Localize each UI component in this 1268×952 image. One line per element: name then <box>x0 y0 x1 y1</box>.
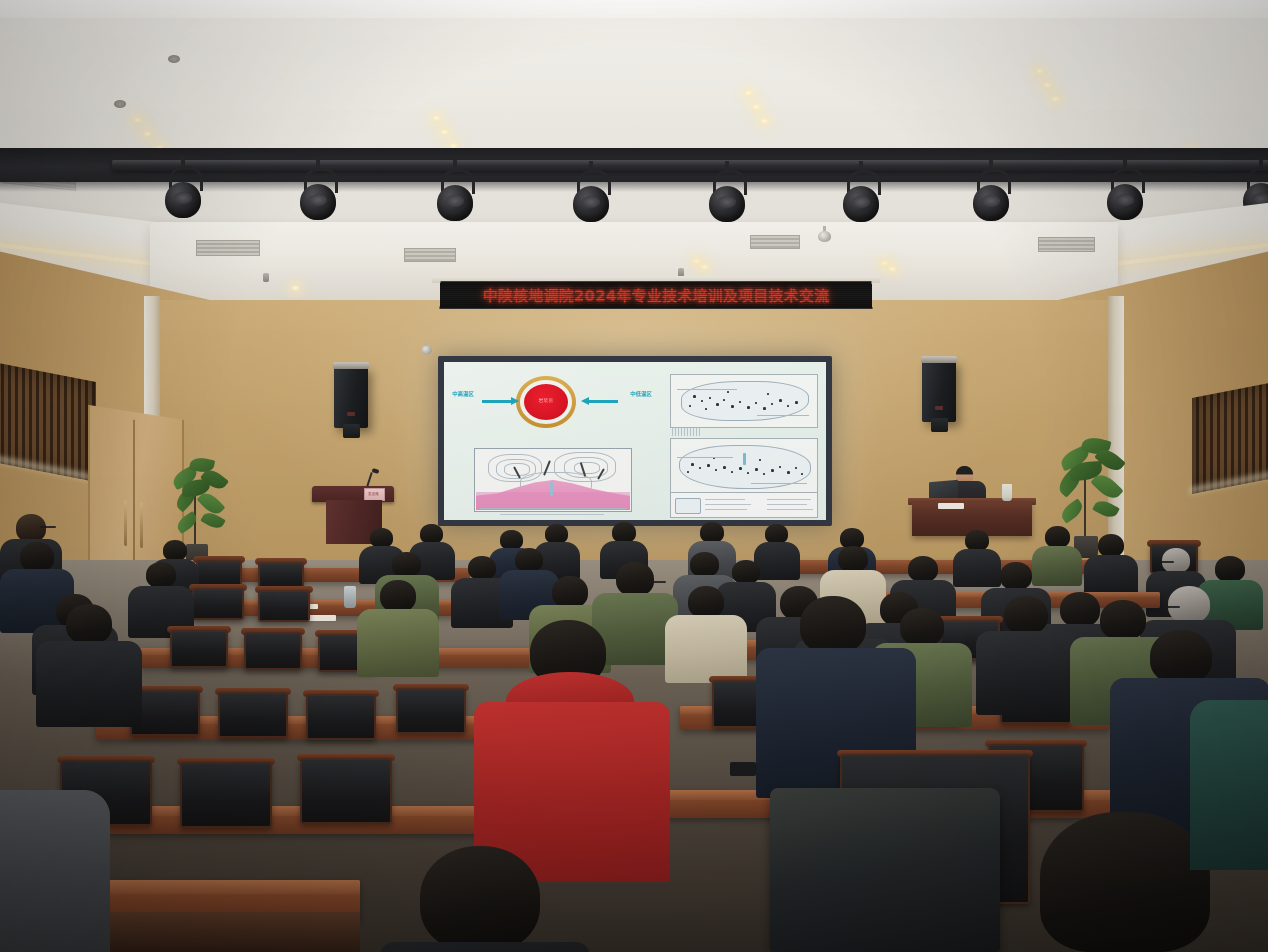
recessed-downlight <box>133 117 142 123</box>
smartphone-on-desk[interactable] <box>730 762 756 776</box>
led-banner-text: 中陕核地调院2024年专业技术培训及项目技术交流 <box>483 285 830 306</box>
stage-light <box>432 169 478 225</box>
recessed-downlight <box>692 258 701 264</box>
speaker-mount <box>343 424 360 438</box>
conference-room-photo: 中陕核地调院2024年专业技术培训及项目技术交流 岩浆房 中高温区 中低温区 <box>0 0 1268 952</box>
recessed-light-housing <box>168 55 180 63</box>
recessed-light-housing <box>114 100 126 108</box>
recessed-downlight <box>888 266 897 272</box>
arrow-right-to-center <box>588 400 618 403</box>
chair[interactable] <box>170 630 228 668</box>
projection-screen-surface: 岩浆房 中高温区 中低温区 <box>444 362 826 520</box>
recessed-downlight <box>880 260 889 266</box>
led-banner: 中陕核地调院2024年专业技术培训及项目技术交流 <box>440 281 873 309</box>
recessed-downlight <box>700 264 709 270</box>
recessed-downlight <box>432 115 441 121</box>
chair[interactable] <box>244 632 302 670</box>
speaker-mount <box>931 418 948 432</box>
presenter-papers <box>938 503 964 509</box>
stage-light <box>568 170 614 226</box>
map-legend <box>670 492 818 518</box>
stage-light <box>704 170 750 226</box>
recessed-downlight <box>291 285 300 291</box>
chair[interactable] <box>396 688 466 734</box>
wall-speaker-right <box>922 360 956 422</box>
recessed-downlight <box>1035 68 1044 74</box>
door-handle[interactable] <box>124 500 127 546</box>
chair[interactable] <box>180 762 272 828</box>
recessed-downlight <box>752 104 761 110</box>
label-low-temp-zone: 中低温区 <box>624 392 658 399</box>
label-high-temp-zone: 中高温区 <box>446 392 480 399</box>
jacket-on-chair <box>770 788 1000 952</box>
stage-light <box>1102 168 1148 224</box>
wall-speaker-left <box>334 366 368 428</box>
chair[interactable] <box>300 758 392 824</box>
recessed-downlight <box>1043 82 1052 88</box>
chair[interactable] <box>192 588 244 620</box>
security-camera-icon <box>421 342 431 355</box>
sprinkler-head <box>263 273 269 282</box>
stage-light <box>968 169 1014 225</box>
recessed-downlight <box>760 118 769 124</box>
lighting-track-bar <box>112 160 1268 171</box>
chair[interactable] <box>218 692 288 738</box>
arrow-left-to-center <box>482 400 512 403</box>
chair[interactable] <box>306 694 376 740</box>
stage-light <box>838 170 884 226</box>
recessed-downlight <box>143 131 152 137</box>
podium-sign-text: 发言席 <box>364 491 383 496</box>
presenter-water-glass <box>1002 484 1012 501</box>
ceiling-vent <box>1038 237 1095 252</box>
geo-map-lower <box>670 438 818 496</box>
stage-light <box>295 168 341 224</box>
ceiling-camera-icon <box>818 226 831 242</box>
map-hatch-band-upper <box>672 428 702 436</box>
recessed-downlight <box>440 129 449 135</box>
geo-map-upper <box>670 374 818 428</box>
water-tumbler <box>344 586 356 608</box>
ceiling-vent <box>750 235 800 249</box>
ceiling-vent <box>196 240 260 256</box>
block-diagram-3d <box>474 448 632 512</box>
recessed-downlight <box>1051 96 1060 102</box>
block-legend-bar <box>500 514 604 515</box>
chair[interactable] <box>258 590 310 622</box>
recessed-downlight <box>744 90 753 96</box>
magma-core-label: 岩浆房 <box>524 398 568 404</box>
door-handle[interactable] <box>140 502 143 548</box>
ceiling-vent <box>404 248 456 262</box>
stage-light <box>160 166 206 222</box>
ceiling-top-strip <box>0 0 1268 18</box>
